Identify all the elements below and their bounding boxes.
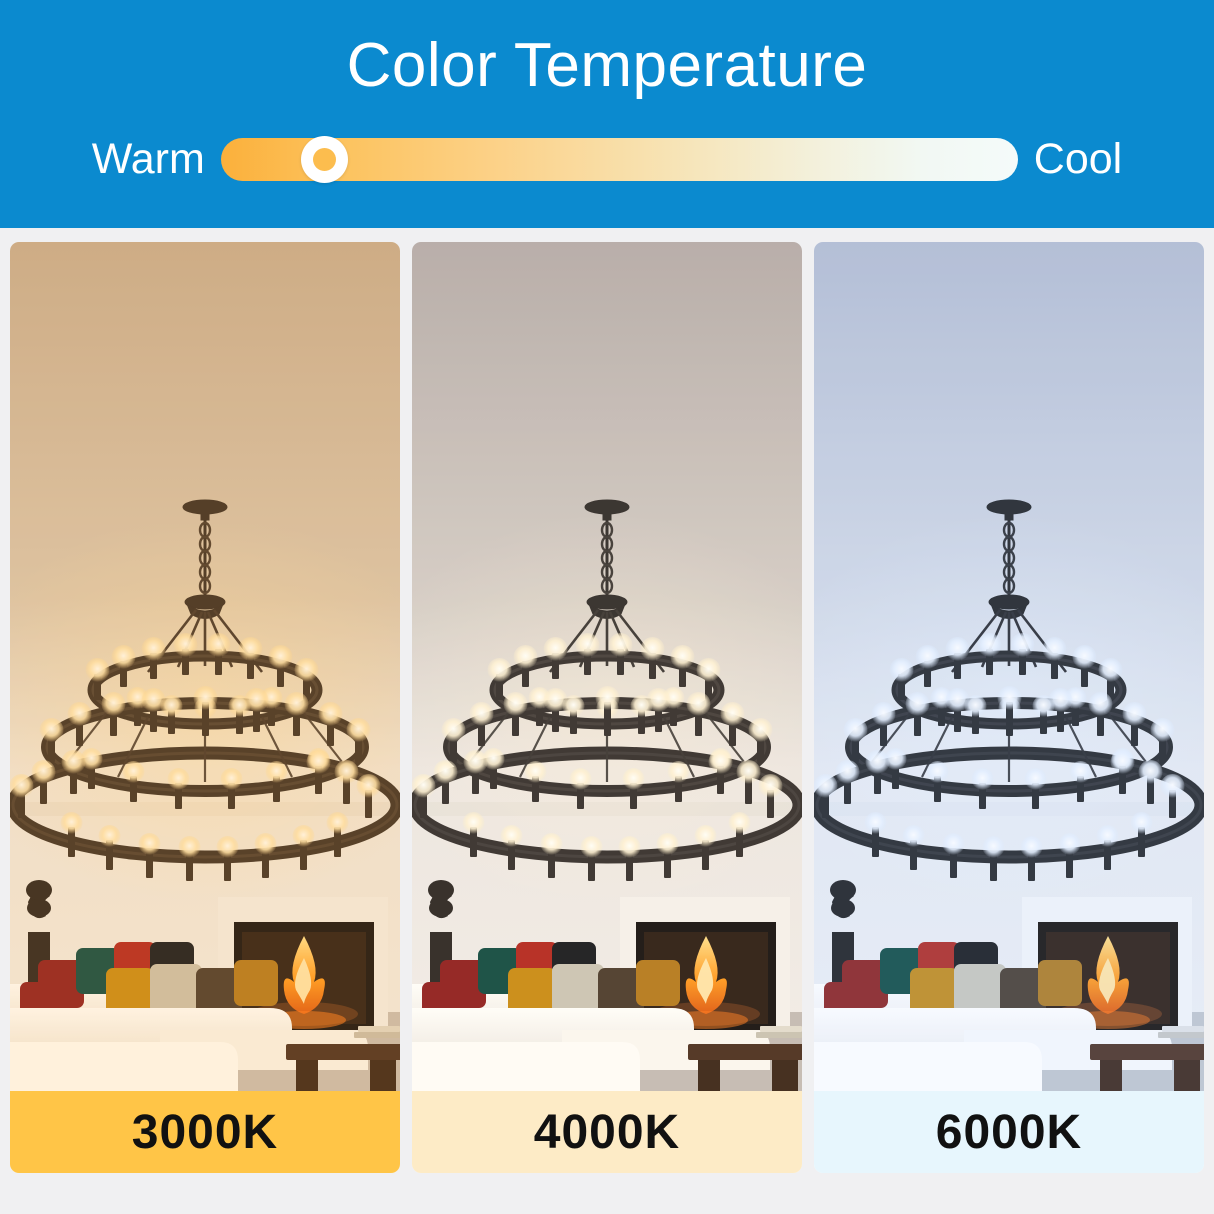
color-temperature-slider[interactable]: Warm Cool [0,124,1214,194]
caption-label: 4000K [534,1105,680,1160]
infographic-page: Color Temperature Warm Cool [0,0,1214,1214]
scene-image-4000k [412,242,802,1091]
slider-track[interactable] [221,138,1018,181]
slider-knob[interactable] [301,136,348,183]
slider-knob-center [313,148,336,171]
page-title: Color Temperature [0,30,1214,102]
comparison-panels: 3000K [10,242,1204,1173]
scene-image-6000k [814,242,1204,1091]
slider-warm-label: Warm [92,138,205,181]
caption-label: 3000K [132,1105,278,1160]
header-banner: Color Temperature Warm Cool [0,0,1214,228]
scene-image-3000k [10,242,400,1091]
panel-6000k[interactable]: 6000K [814,242,1204,1173]
caption-4000k: 4000K [412,1091,802,1173]
caption-3000k: 3000K [10,1091,400,1173]
panel-3000k[interactable]: 3000K [10,242,400,1173]
caption-6000k: 6000K [814,1091,1204,1173]
caption-label: 6000K [936,1105,1082,1160]
slider-cool-label: Cool [1034,138,1122,181]
panel-4000k[interactable]: 4000K [412,242,802,1173]
